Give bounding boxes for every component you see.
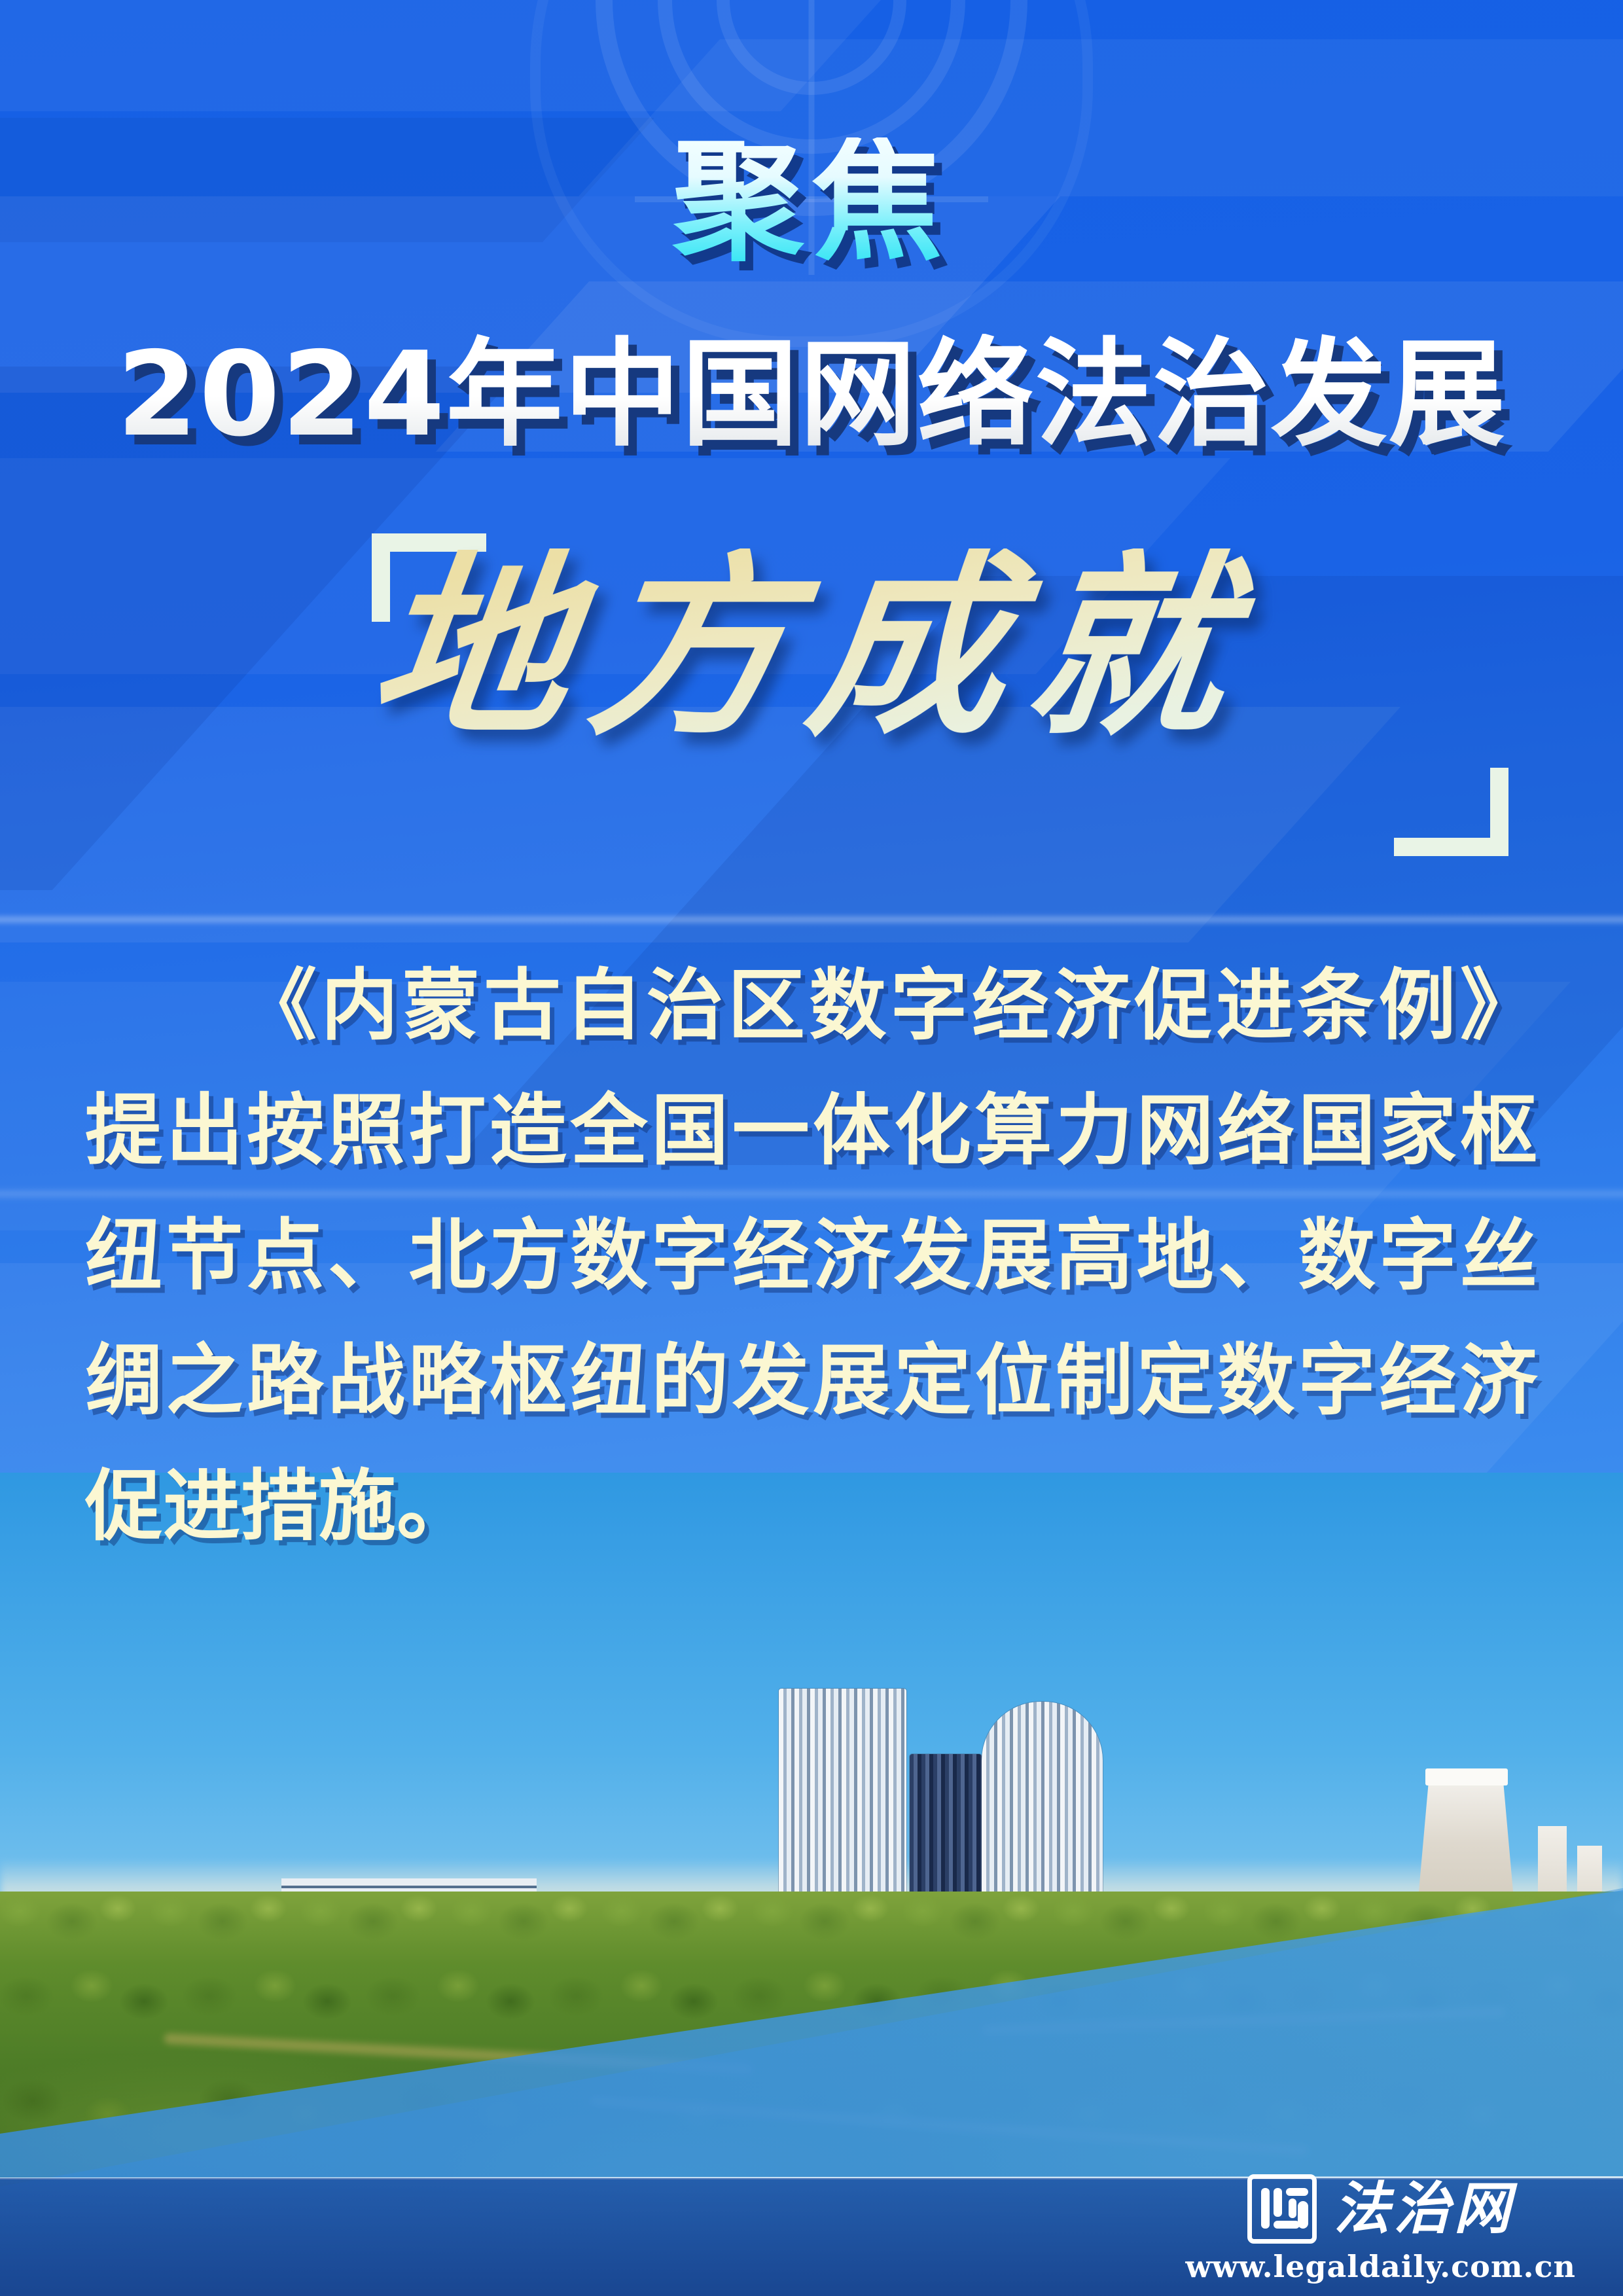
cooling-tower-cap xyxy=(1425,1768,1508,1785)
seal-stamp-icon xyxy=(1247,2174,1317,2244)
brand-name: 法治网 xyxy=(1334,2181,1514,2237)
kicker-title: 聚焦 xyxy=(0,137,1623,268)
poster-root: 聚焦 2024年中国网络法治发展 地方成就 《内蒙古自治区数字经济促进条例》提出… xyxy=(0,0,1623,2296)
page-title: 2024年中国网络法治发展 xyxy=(0,334,1623,455)
calligraphy-subtitle: 地方成就 xyxy=(0,548,1623,745)
bg-light-sweep xyxy=(0,916,1623,923)
body-paragraph: 《内蒙古自治区数字经济促进条例》提出按照打造全国一体化算力网络国家枢纽节点、北方… xyxy=(85,942,1538,1568)
brand-logo-row: 法治网 xyxy=(1247,2174,1514,2244)
city-skyline-photo xyxy=(0,1473,1623,2296)
corner-bracket-bottom-right-stem xyxy=(1490,768,1508,856)
brand-url: www.legaldaily.com.cn xyxy=(1185,2249,1576,2284)
brand-logo[interactable]: 法治网 www.legaldaily.com.cn xyxy=(1185,2174,1576,2284)
